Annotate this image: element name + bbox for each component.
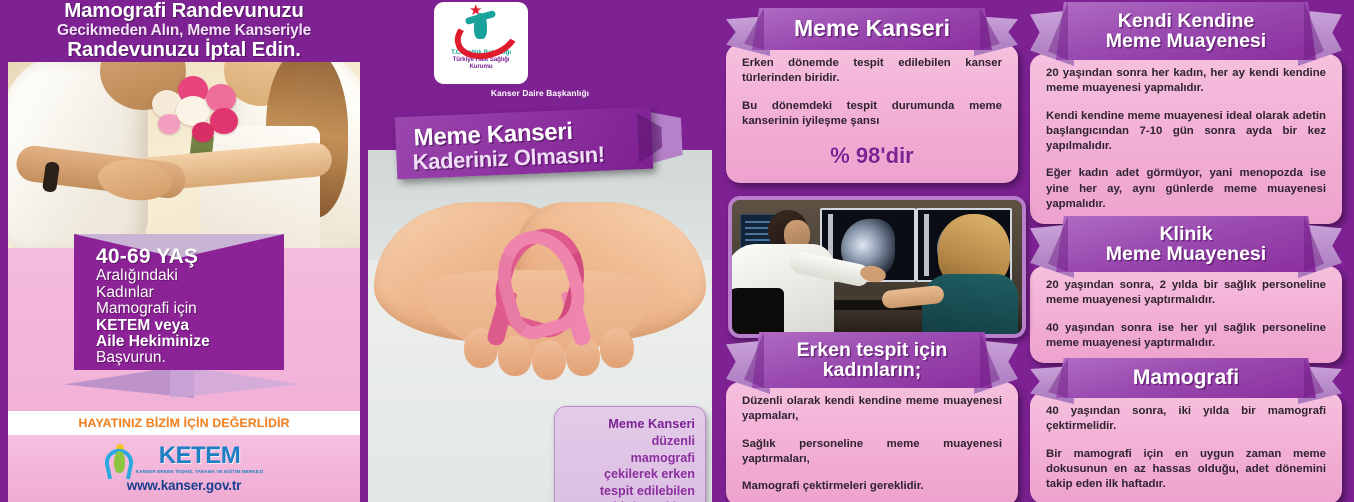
card-kendi-kendine: Kendi Kendine Meme Muayenesi 20 yaşından… — [1030, 2, 1342, 224]
flower — [158, 114, 180, 134]
clinic-photo — [728, 196, 1026, 338]
age-line-5: KETEM veya — [96, 318, 284, 334]
card-klinik-muayene: Klinik Meme Muayenesi 20 yaşından sonra,… — [1030, 216, 1342, 363]
left-panel: Mamografi Randevunuzu Gecikmeden Alın, M… — [0, 0, 368, 502]
center-note-line-1: düzenli — [565, 433, 695, 450]
card-erken-tespit: Erken tespit için kadınların; Düzenli ol… — [726, 332, 1018, 502]
left-headline: Mamografi Randevunuzu Gecikmeden Alın, M… — [0, 0, 368, 62]
headline-line-2: Gecikmeden Alın, Meme Kanseriyle — [57, 23, 311, 39]
photo-scan-edge — [924, 214, 929, 276]
card-mamografi: Mamografi 40 yaşından sonra, iki yılda b… — [1030, 358, 1342, 502]
card-title: Erken tespit için kadınların; — [726, 332, 1018, 388]
card-title: Mamografi — [1030, 358, 1342, 398]
ketem-body — [114, 451, 125, 473]
ketem-url[interactable]: www.kanser.gov.tr — [127, 478, 241, 493]
center-note-line-2: mamografi — [565, 450, 695, 467]
card-body: Düzenli olarak kendi kendine meme muayen… — [726, 382, 1018, 502]
card-title: Klinik Meme Muayenesi — [1030, 216, 1342, 272]
headline-line-3: Randevunuzu İptal Edin. — [67, 40, 300, 61]
center-note-line-4: tespit edilebilen — [565, 483, 695, 500]
card-paragraph: Sağlık personeline meme muayenesi yaptır… — [742, 437, 1002, 468]
card-title: Meme Kanseri — [726, 8, 1018, 50]
card-title-line-1: Erken tespit için — [797, 340, 948, 360]
card-title-line-1: Meme Kanseri — [794, 17, 950, 41]
card-paragraph: Bir mamografi için en uygun zaman meme d… — [1046, 447, 1326, 493]
card-banner: Erken tespit için kadınların; — [726, 332, 1018, 388]
card-title: Kendi Kendine Meme Muayenesi — [1030, 2, 1342, 60]
card-paragraph: Mamografi çektirmeleri gereklidir. — [742, 479, 1002, 494]
photo-finger — [532, 340, 566, 380]
center-note-card: Meme Kanseri düzenli mamografi çekilerek… — [554, 406, 706, 502]
age-banner-text: 40-69 YAŞ Aralığındaki Kadınlar Mamograf… — [74, 234, 284, 370]
right-panel: Meme Kanseri Erken dönemde tespit edileb… — [712, 0, 1354, 502]
flower — [192, 122, 214, 142]
age-line-3: Kadınlar — [96, 285, 284, 301]
age-ribbon-banner: 40-69 YAŞ Aralığındaki Kadınlar Mamograf… — [74, 234, 284, 370]
ministry-logo: ★ T.C. Sağlık Bakanlığı Türkiye Halk Sağ… — [434, 2, 528, 84]
card-title-line-2: kadınların; — [823, 360, 922, 380]
card-paragraph: Eğer kadın adet görmüyor, yani menopozda… — [1046, 166, 1326, 212]
ketem-person-icon — [105, 444, 133, 474]
card-title-line-2: Meme Muayenesi — [1106, 244, 1266, 264]
card-meme-kanseri: Meme Kanseri Erken dönemde tespit edileb… — [726, 8, 1018, 183]
ketem-subtitle: KANSER ERKEN TEŞHİS, TARAMA VE EĞİTİM ME… — [136, 469, 264, 474]
ketem-wordmark: KETEM — [159, 444, 241, 468]
age-line-6: Aile Hekiminize — [96, 334, 284, 350]
center-panel: ★ T.C. Sağlık Bakanlığı Türkiye Halk Sağ… — [368, 0, 712, 502]
card-body: Erken dönemde tespit edilebilen kanser t… — [726, 44, 1018, 183]
photo-patient-body — [922, 274, 1018, 338]
card-paragraph: 40 yaşından sonra ise her yıl sağlık per… — [1046, 321, 1326, 352]
card-paragraph: 20 yaşından sonra, 2 yılda bir sağlık pe… — [1046, 278, 1326, 309]
poster-root: Mamografi Randevunuzu Gecikmeden Alın, M… — [0, 0, 1354, 502]
card-paragraph: 40 yaşından sonra, iki yılda bir mamogra… — [1046, 404, 1326, 435]
card-paragraph: Düzenli olarak kendi kendine meme muayen… — [742, 394, 1002, 425]
ketem-logo-row: KETEM KANSER ERKEN TEŞHİS, TARAMA VE EĞİ… — [105, 444, 264, 474]
center-note-line-3: çekilerek erken — [565, 466, 695, 483]
card-paragraph: 20 yaşından sonra her kadın, her ay kend… — [1046, 66, 1326, 97]
card-highlight: % 98'dir — [742, 141, 1002, 170]
pink-ribbon-icon — [489, 228, 589, 346]
card-title-line-1: Klinik — [1159, 224, 1212, 244]
photo-finger — [600, 328, 634, 368]
age-line-7: Başvurun. — [96, 350, 284, 366]
card-title-line-1: Mamografi — [1133, 367, 1239, 389]
slogan-bar: HAYATINIZ BİZİM İÇİN DEĞERLİDİR — [8, 411, 360, 435]
center-note-title: Meme Kanseri — [565, 416, 695, 433]
card-paragraph: Bu dönemdeki tespit durumunda meme kanse… — [742, 99, 1002, 130]
flower — [210, 108, 238, 134]
card-paragraph: Kendi kendine meme muayenesi ideal olara… — [1046, 109, 1326, 155]
card-banner: Meme Kanseri — [726, 8, 1018, 50]
ministry-emblem-icon: ★ — [452, 6, 510, 48]
ketem-logo-block: KETEM KANSER ERKEN TEŞHİS, TARAMA VE EĞİ… — [8, 435, 360, 502]
center-banner: Meme Kanseri Kaderiniz Olmasın! — [395, 107, 653, 180]
age-line-2: Aralığındaki — [96, 268, 284, 284]
photo-bouquet — [148, 70, 258, 152]
card-body: 20 yaşından sonra, 2 yılda bir sağlık pe… — [1030, 266, 1342, 363]
card-banner: Klinik Meme Muayenesi — [1030, 216, 1342, 272]
age-line-1: 40-69 YAŞ — [96, 246, 284, 268]
card-body: 40 yaşından sonra, iki yılda bir mamogra… — [1030, 392, 1342, 502]
age-line-4: Mamografi için — [96, 301, 284, 317]
ministry-line-3: Kurumu — [469, 63, 492, 70]
slogan-text: HAYATINIZ BİZİM İÇİN DEĞERLİDİR — [78, 416, 289, 430]
card-paragraph: Erken dönemde tespit edilebilen kanser t… — [742, 56, 1002, 87]
couple-photo — [8, 62, 360, 249]
card-body: 20 yaşından sonra her kadın, her ay kend… — [1030, 54, 1342, 224]
ketem-wordmark-block: KETEM KANSER ERKEN TEŞHİS, TARAMA VE EĞİ… — [136, 444, 264, 474]
card-banner: Mamografi — [1030, 358, 1342, 398]
photo-chair — [728, 288, 784, 334]
card-title-line-1: Kendi Kendine — [1118, 11, 1255, 31]
ministry-caption: Kanser Daire Başkanlığı — [368, 88, 712, 98]
card-banner: Kendi Kendine Meme Muayenesi — [1030, 2, 1342, 60]
headline-line-1: Mamografi Randevunuzu — [64, 1, 304, 22]
card-title-line-2: Meme Muayenesi — [1106, 31, 1266, 51]
